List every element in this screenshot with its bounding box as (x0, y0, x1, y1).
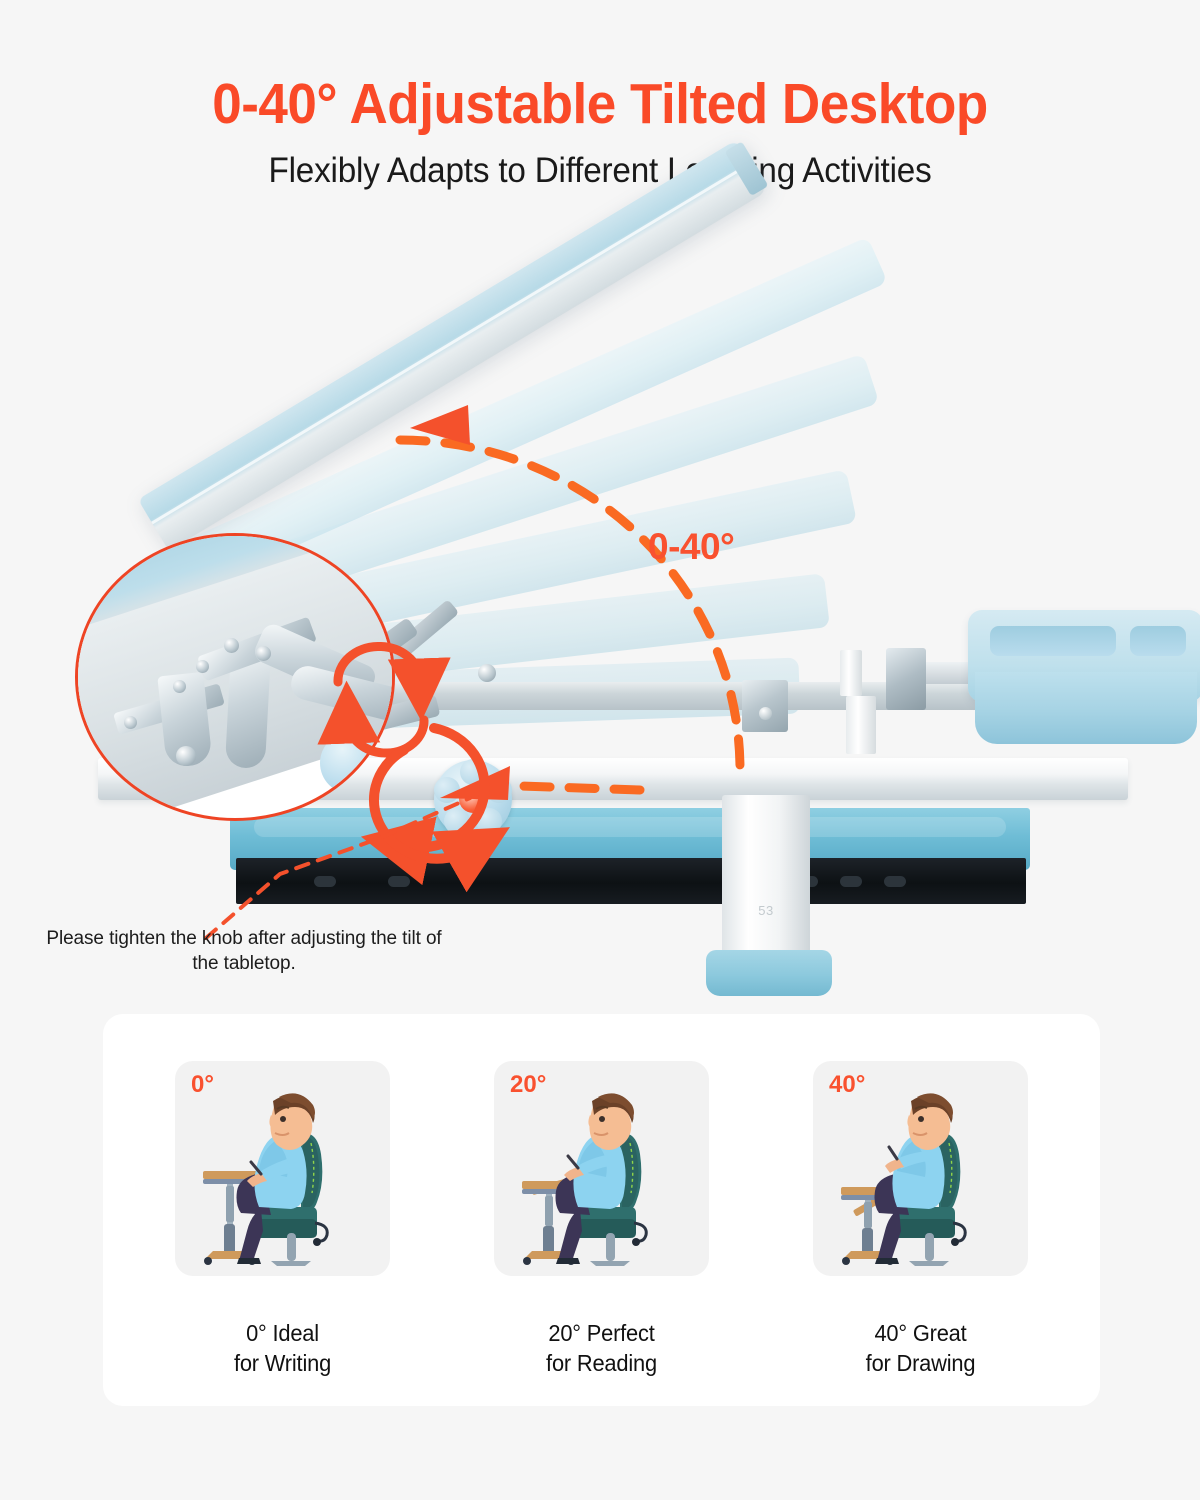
tilt-range-label: 0-40° (648, 526, 734, 568)
usecase-image-40deg: 40° (813, 1061, 1028, 1276)
usecase-card-40deg[interactable]: 40° (813, 1061, 1028, 1379)
angle-badge-40deg: 40° (829, 1071, 865, 1099)
usecase-label-line1: 40° Great (818, 1318, 1022, 1348)
usecase-label-0deg: 0° Ideal for Writing (180, 1318, 384, 1379)
header: 0-40° Adjustable Tilted Desktop Flexibly… (0, 74, 1200, 191)
hinge-detail-image (78, 536, 392, 818)
angle-badge-0deg: 0° (191, 1071, 214, 1099)
product-diagram: 53 (0, 250, 1200, 1010)
usecase-label-line2: for Reading (499, 1348, 703, 1378)
rail-bracket-right (742, 680, 788, 732)
column-foot (706, 950, 832, 996)
hinge-pivot-mid (478, 664, 496, 682)
usecases-panel: 0° (103, 1014, 1100, 1406)
storage-tray-front (975, 672, 1197, 744)
infographic-page: 0-40° Adjustable Tilted Desktop Flexibly… (0, 0, 1200, 1500)
page-title: 0-40° Adjustable Tilted Desktop (42, 74, 1158, 134)
usecase-image-0deg: 0° (175, 1061, 390, 1276)
usecase-label-line1: 20° Perfect (499, 1318, 703, 1348)
knob-caption: Please tighten the knob after adjusting … (44, 926, 444, 977)
height-adjust-column: 53 (722, 795, 810, 970)
usecase-card-0deg[interactable]: 0° (175, 1061, 390, 1379)
column-height-marking: 53 (722, 903, 810, 918)
tray-clamp (886, 648, 926, 710)
support-post-b (846, 696, 876, 754)
tilt-adjust-knob[interactable] (434, 760, 512, 838)
support-post-a (840, 650, 862, 696)
usecase-label-40deg: 40° Great for Drawing (818, 1318, 1022, 1379)
usecase-label-line2: for Writing (180, 1348, 384, 1378)
angle-badge-20deg: 20° (510, 1071, 546, 1099)
hinge-detail-inset (75, 533, 395, 821)
page-subtitle: Flexibly Adapts to Different Learning Ac… (30, 151, 1170, 191)
drawer-rail (236, 858, 1026, 904)
inset-knob (320, 732, 382, 794)
usecase-label-20deg: 20° Perfect for Reading (499, 1318, 703, 1379)
usecase-label-line2: for Drawing (818, 1348, 1022, 1378)
usecase-label-line1: 0° Ideal (180, 1318, 384, 1348)
usecase-card-20deg[interactable]: 20° (494, 1061, 709, 1379)
usecases-row: 0° (103, 1014, 1100, 1406)
usecase-image-20deg: 20° (494, 1061, 709, 1276)
